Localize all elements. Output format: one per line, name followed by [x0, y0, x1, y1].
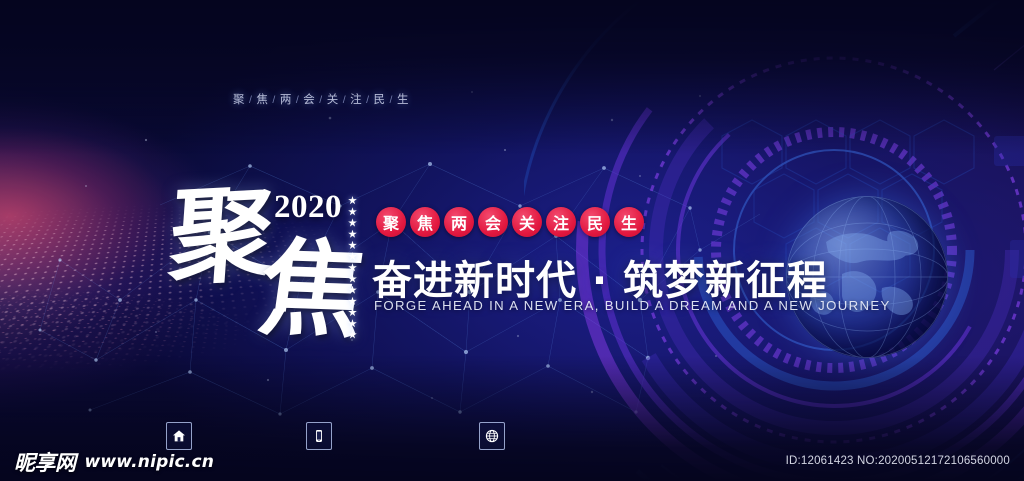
eyebrow-char: 聚 — [233, 94, 245, 106]
star-column — [348, 196, 357, 339]
star-icon — [348, 263, 357, 272]
eyebrow-separator: / — [249, 94, 252, 106]
eyebrow-separator: / — [319, 94, 322, 106]
keyword-badge: 关 — [512, 207, 542, 237]
eyebrow-char: 两 — [280, 94, 292, 106]
eyebrow-char: 注 — [350, 94, 362, 106]
star-icon — [348, 274, 357, 283]
star-icon — [348, 252, 357, 261]
watermark-site-name: 昵享网 — [14, 447, 76, 477]
eyebrow-char: 会 — [303, 94, 315, 106]
star-icon — [348, 286, 357, 295]
eyebrow-char: 焦 — [256, 94, 268, 106]
star-icon — [348, 330, 357, 339]
watermark: 昵享网 www.nipic.cn — [14, 447, 214, 477]
eyebrow-separator: / — [343, 94, 346, 106]
eyebrow-char: 生 — [397, 94, 409, 106]
star-icon — [348, 308, 357, 317]
keyword-badge-group: 聚焦两会关注民生 — [376, 207, 644, 237]
bottom-vignette — [0, 0, 1024, 481]
eyebrow-separator: / — [272, 94, 275, 106]
phone-icon-glyph — [312, 429, 326, 443]
keyword-badge: 注 — [546, 207, 576, 237]
keyword-badge: 会 — [478, 207, 508, 237]
english-subheadline: FORGE AHEAD IN A NEW ERA, BUILD A DREAM … — [374, 298, 891, 313]
eyebrow-text: 聚/焦/两/会/关/注/民/生 — [232, 91, 410, 107]
star-icon — [348, 297, 357, 306]
keyword-badge: 焦 — [410, 207, 440, 237]
watermark-url: www.nipic.cn — [85, 452, 215, 472]
eyebrow-separator: / — [296, 94, 299, 106]
year-label: 2020 — [274, 189, 342, 226]
star-icon — [348, 196, 357, 205]
home-icon[interactable] — [166, 422, 192, 450]
eyebrow-char: 关 — [327, 94, 339, 106]
eyebrow-separator: / — [390, 94, 393, 106]
home-icon-glyph — [172, 429, 186, 443]
star-icon — [348, 218, 357, 227]
star-icon — [348, 241, 357, 250]
eyebrow-char: 民 — [374, 94, 386, 106]
keyword-badge: 聚 — [376, 207, 406, 237]
image-id-tag: ID:12061423 NO:20200512172106560000 — [786, 455, 1010, 467]
star-icon — [348, 319, 357, 328]
globe-icon-glyph — [485, 429, 499, 443]
poster-canvas: 聚/焦/两/会/关/注/民/生 聚 焦 2020 聚焦两会关注民生 奋进新时代 … — [0, 0, 1024, 481]
phone-icon[interactable] — [306, 422, 332, 450]
keyword-badge: 生 — [614, 207, 644, 237]
star-icon — [348, 207, 357, 216]
eyebrow-separator: / — [366, 94, 369, 106]
keyword-badge: 两 — [444, 207, 474, 237]
star-icon — [348, 230, 357, 239]
globe-icon[interactable] — [479, 422, 505, 450]
keyword-badge: 民 — [580, 207, 610, 237]
